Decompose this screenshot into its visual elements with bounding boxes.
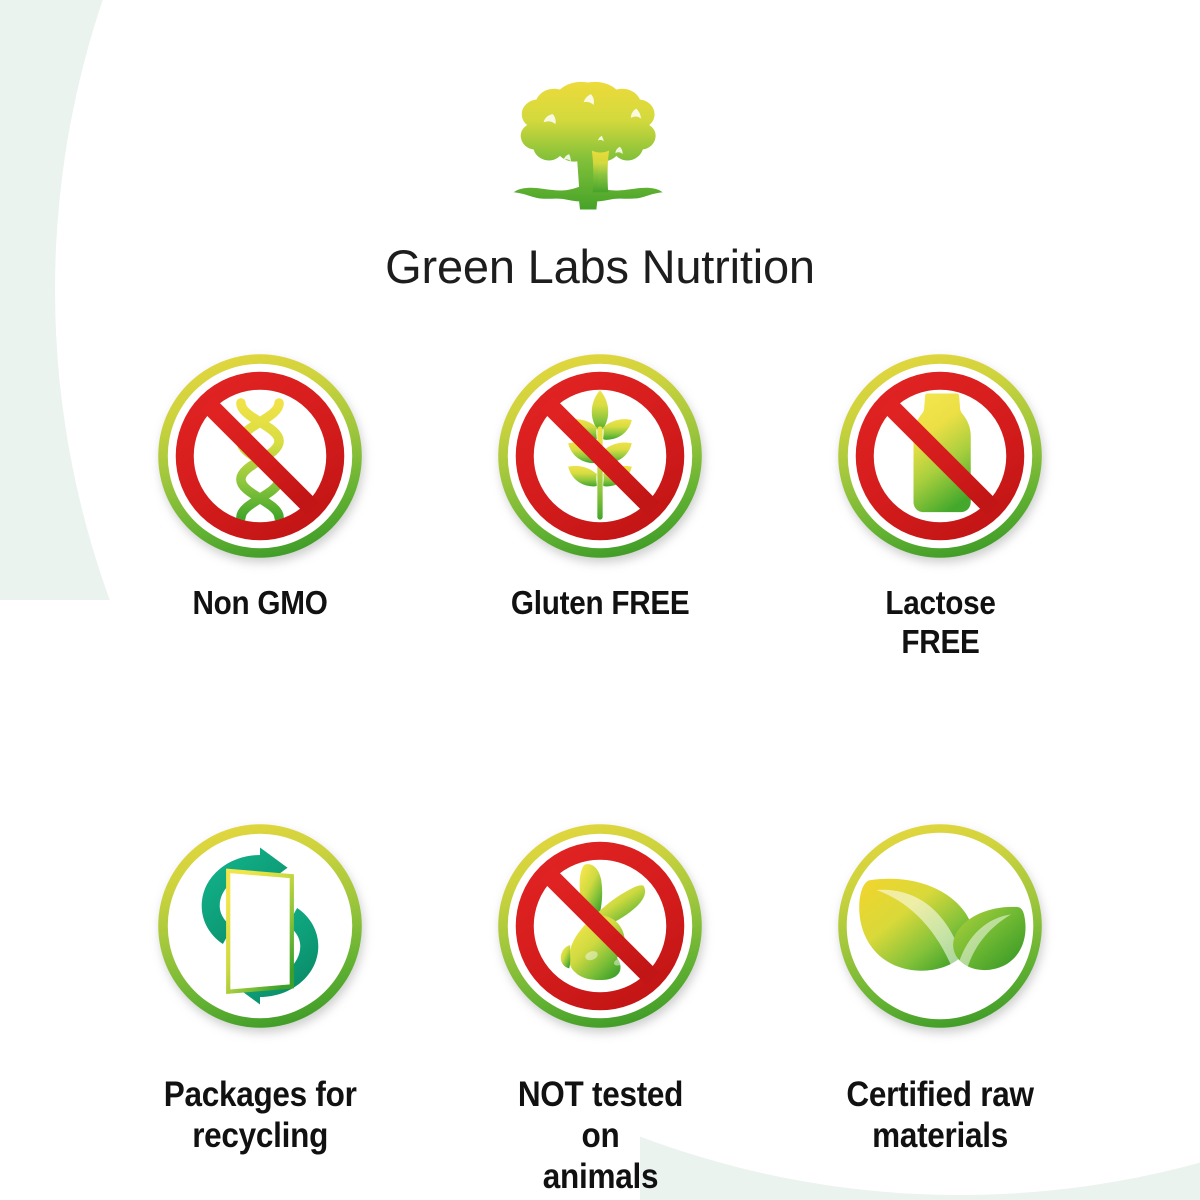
badge-certified-raw-materials[interactable]	[834, 820, 1046, 1032]
badge-label: Lactose FREE	[843, 584, 1037, 662]
badge-not-tested-on-animals[interactable]	[494, 820, 706, 1032]
badge-item-not-tested-on-animals[interactable]: NOT tested on animals	[493, 820, 708, 1198]
badge-row-top: Non GMO	[0, 350, 1200, 662]
badge-item-packages-for-recycling[interactable]: Packages for recycling	[153, 820, 368, 1198]
page-title: Green Labs Nutrition	[0, 241, 1200, 293]
badge-label: Packages for recycling	[164, 1074, 357, 1157]
badge-label: NOT tested on animals	[503, 1074, 697, 1198]
badge-item-certified-raw-materials[interactable]: Certified raw materials	[833, 820, 1048, 1198]
badge-gluten-free[interactable]	[494, 350, 706, 562]
badge-label: Non GMO	[192, 584, 327, 623]
badge-non-gmo[interactable]	[154, 350, 366, 562]
badge-label: Gluten FREE	[511, 584, 690, 623]
badge-item-non-gmo[interactable]: Non GMO	[153, 350, 368, 662]
badge-row-bottom: Packages for recycling	[0, 820, 1200, 1198]
badge-label: Certified raw materials	[846, 1074, 1033, 1157]
certification-badge-grid: Non GMO	[0, 350, 1200, 1198]
tree-logo-icon	[0, 62, 1200, 227]
badge-item-lactose-free[interactable]: Lactose FREE	[833, 350, 1048, 662]
badge-item-gluten-free[interactable]: Gluten FREE	[493, 350, 708, 662]
infographic-canvas: Green Labs Nutrition	[0, 0, 1200, 1200]
badge-packages-for-recycling[interactable]	[154, 820, 366, 1032]
badge-lactose-free[interactable]	[834, 350, 1046, 562]
brand-header: Green Labs Nutrition	[0, 0, 1200, 293]
